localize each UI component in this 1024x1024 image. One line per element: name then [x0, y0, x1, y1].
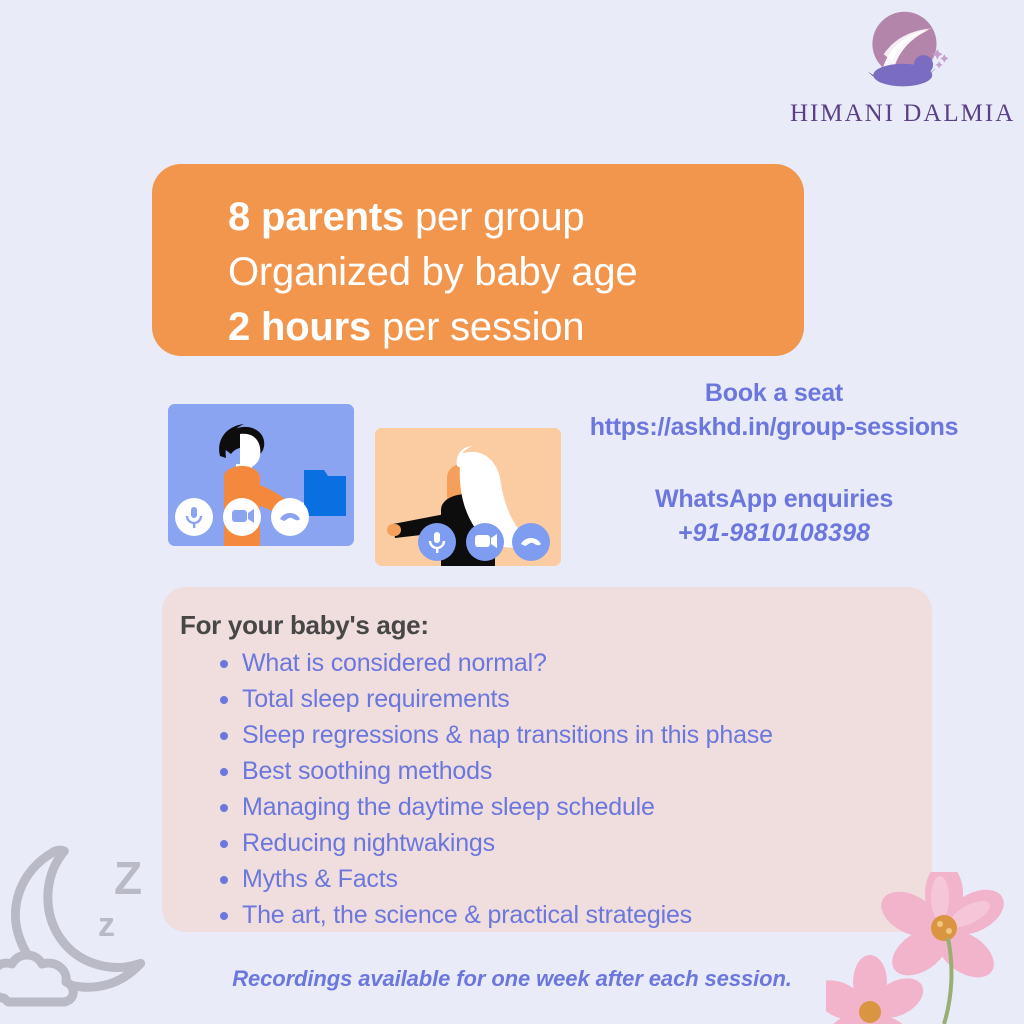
bullet-icon [220, 912, 228, 920]
banner-line-3-strong: 2 hours [228, 305, 371, 349]
bullet-icon [220, 660, 228, 668]
banner-line-2: Organized by baby age [228, 245, 804, 300]
topic-label: Total sleep requirements [242, 685, 510, 713]
topics-panel: For your baby's age: What is considered … [162, 587, 932, 932]
whatsapp-phone-number[interactable]: +91-9810108398 [548, 516, 1000, 550]
topic-label: Reducing nightwakings [242, 829, 495, 857]
brand-logo-block: HIMANI DALMIA [790, 4, 1012, 132]
list-item: Best soothing methods [220, 753, 932, 789]
svg-text:z: z [98, 906, 115, 944]
bullet-icon [220, 768, 228, 776]
bullet-icon [220, 804, 228, 812]
list-item: Reducing nightwakings [220, 825, 932, 861]
whatsapp-enquiries-heading: WhatsApp enquiries [548, 482, 1000, 516]
crescent-moon-with-cloud-and-zzz-icon: Z z [0, 836, 190, 1024]
banner-line-1-rest: per group [404, 195, 584, 239]
banner-line-2-rest: Organized by baby age [228, 250, 637, 294]
list-item: Total sleep requirements [220, 681, 932, 717]
topics-panel-title: For your baby's age: [180, 605, 932, 645]
book-a-seat-heading: Book a seat [548, 376, 1000, 410]
svg-text:Z: Z [114, 852, 142, 904]
banner-line-1-strong: 8 parents [228, 195, 404, 239]
banner-line-1: 8 parents per group [228, 190, 804, 245]
list-item: Managing the daytime sleep schedule [220, 789, 932, 825]
list-item: What is considered normal? [220, 645, 932, 681]
video-call-illustration-blue [168, 404, 354, 546]
bullet-icon [220, 696, 228, 704]
topic-label: Myths & Facts [242, 865, 398, 893]
bullet-icon [220, 840, 228, 848]
topic-label: Managing the daytime sleep schedule [242, 793, 655, 821]
poster-canvas: HIMANI DALMIA 8 parents per group Organi… [0, 0, 1024, 1024]
video-call-thumbnail-peach[interactable] [375, 428, 561, 566]
video-call-thumbnail-blue[interactable] [168, 404, 354, 546]
booking-url-link[interactable]: https://askhd.in/group-sessions [548, 410, 1000, 444]
topic-label: Sleep regressions & nap transitions in t… [242, 721, 773, 749]
video-call-illustration-peach [375, 428, 561, 566]
bullet-icon [220, 732, 228, 740]
list-item: Sleep regressions & nap transitions in t… [220, 717, 932, 753]
bullet-icon [220, 876, 228, 884]
topic-label: What is considered normal? [242, 649, 547, 677]
pink-cosmos-flowers-icon [826, 872, 1024, 1024]
brand-name: HIMANI DALMIA [790, 100, 1012, 128]
highlights-banner: 8 parents per group Organized by baby ag… [152, 164, 804, 356]
topics-list: What is considered normal? Total sleep r… [180, 645, 932, 933]
mother-and-baby-crescent-logo-icon [849, 4, 953, 108]
topic-label: The art, the science & practical strateg… [242, 901, 692, 929]
booking-info-block: Book a seat https://askhd.in/group-sessi… [548, 376, 1000, 550]
banner-line-3: 2 hours per session [228, 300, 804, 355]
topic-label: Best soothing methods [242, 757, 492, 785]
banner-line-3-rest: per session [371, 305, 584, 349]
